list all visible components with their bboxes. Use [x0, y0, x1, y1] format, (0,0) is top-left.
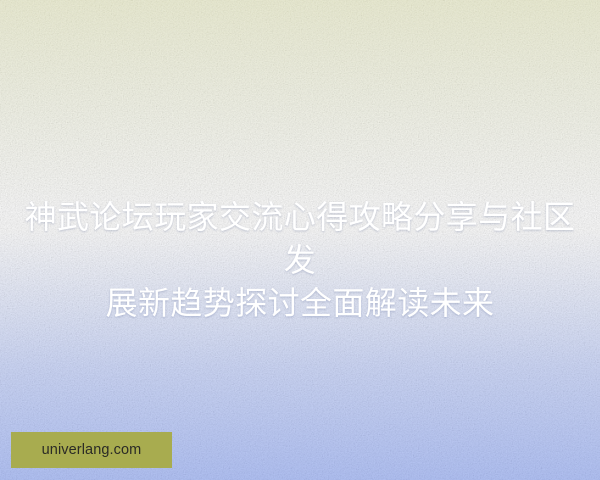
- watermark-badge: univerlang.com: [11, 432, 172, 468]
- banner: 神武论坛玩家交流心得攻略分享与社区发 展新趋势探讨全面解读未来 univerla…: [0, 0, 600, 480]
- background-haze-top: [0, 0, 600, 210]
- watermark-label: univerlang.com: [42, 443, 142, 458]
- banner-headline: 神武论坛玩家交流心得攻略分享与社区发 展新趋势探讨全面解读未来: [0, 196, 600, 325]
